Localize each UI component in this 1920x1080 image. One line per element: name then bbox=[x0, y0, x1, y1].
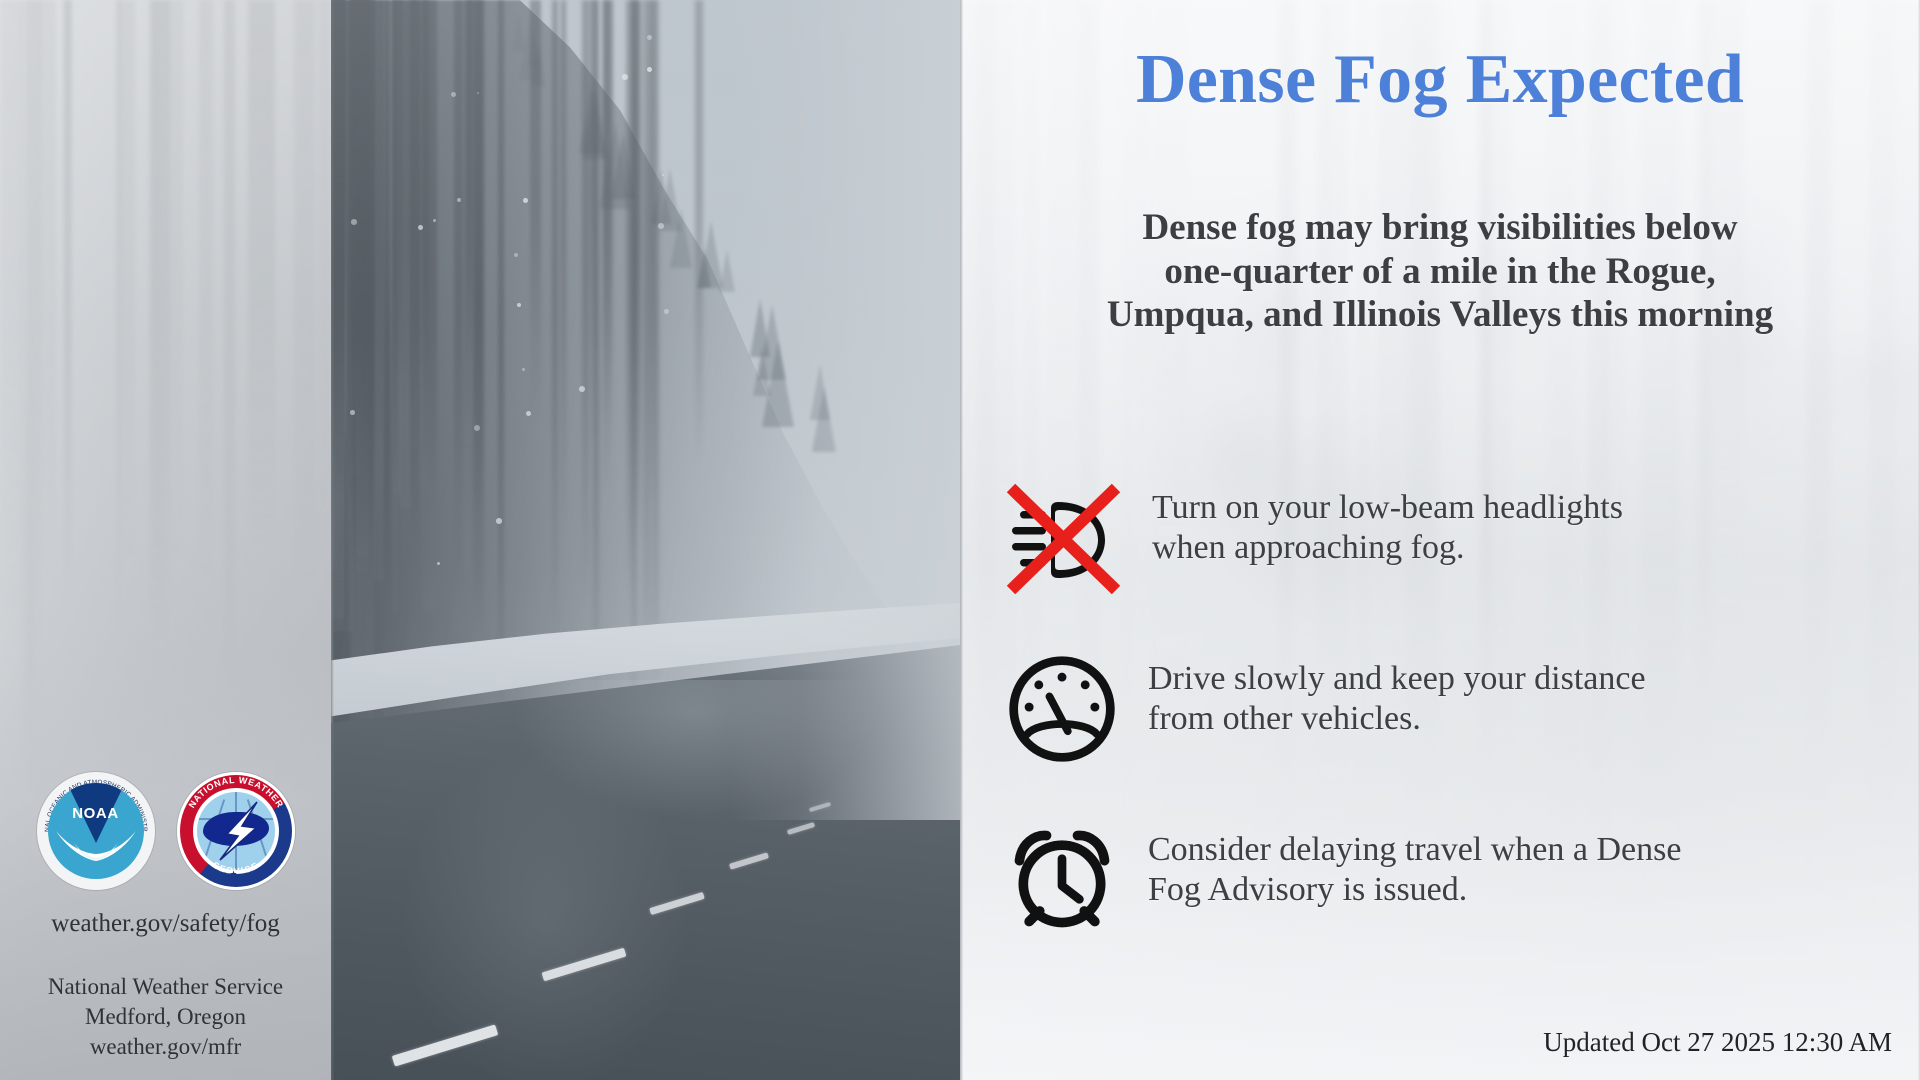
noaa-logo-icon: NATIONAL OCEANIC AND ATMOSPHERIC ADMINIS… bbox=[37, 772, 155, 890]
office-name: National Weather Service bbox=[0, 972, 331, 1002]
office-credit: National Weather Service Medford, Oregon… bbox=[0, 972, 331, 1062]
branding-panel: NATIONAL OCEANIC AND ATMOSPHERIC ADMINIS… bbox=[0, 0, 331, 1080]
nws-logo-icon: NATIONAL WEATHER SERVICE ★ ★ ★ bbox=[177, 772, 295, 890]
speedometer-icon bbox=[1004, 651, 1120, 767]
photo-left-edge bbox=[331, 0, 334, 1080]
safety-tip-line-1: Drive slowly and keep your distance bbox=[1148, 659, 1880, 699]
subheadline-line-1: Dense fog may bring visibilities below bbox=[982, 206, 1898, 250]
alarm-clock-glyph bbox=[1004, 822, 1120, 938]
noaa-wordmark: NOAA bbox=[48, 805, 144, 822]
safety-tip-line-2: when approaching fog. bbox=[1152, 528, 1880, 568]
fog-safety-link[interactable]: weather.gov/safety/fog bbox=[0, 910, 331, 938]
safety-tip-line-1: Turn on your low-beam headlights bbox=[1152, 488, 1880, 528]
no-high-beam-headlight-icon bbox=[1004, 480, 1124, 596]
safety-tip-line-2: Fog Advisory is issued. bbox=[1148, 870, 1880, 910]
headlight-glyph bbox=[1004, 480, 1124, 600]
safety-tip-text: Turn on your low-beam headlights when ap… bbox=[1152, 480, 1880, 568]
svg-text:NATIONAL WEATHER: NATIONAL WEATHER bbox=[186, 775, 285, 810]
speedometer-glyph bbox=[1004, 651, 1120, 767]
subheadline-line-3: Umpqua, and Illinois Valleys this mornin… bbox=[982, 293, 1898, 337]
alarm-clock-icon bbox=[1004, 822, 1120, 938]
agency-logos: NATIONAL OCEANIC AND ATMOSPHERIC ADMINIS… bbox=[0, 772, 331, 890]
safety-tip-text: Drive slowly and keep your distance from… bbox=[1148, 651, 1880, 739]
safety-tip-line-1: Consider delaying travel when a Dense bbox=[1148, 830, 1880, 870]
page-title: Dense Fog Expected bbox=[960, 40, 1920, 120]
safety-tip-item: Consider delaying travel when a Dense Fo… bbox=[960, 822, 1920, 938]
noaa-disc: NOAA bbox=[48, 783, 144, 879]
updated-timestamp: Updated Oct 27 2025 12:30 AM bbox=[1543, 1027, 1892, 1058]
safety-tip-line-2: from other vehicles. bbox=[1148, 699, 1880, 739]
safety-tip-text: Consider delaying travel when a Dense Fo… bbox=[1148, 822, 1880, 910]
noaa-seagull-icon bbox=[54, 827, 138, 867]
subheadline-line-2: one-quarter of a mile in the Rogue, bbox=[982, 250, 1898, 294]
nws-stars: ★ ★ ★ bbox=[177, 869, 295, 880]
fog-road-photo bbox=[331, 0, 960, 1080]
message-panel: Dense Fog Expected Dense fog may bring v… bbox=[960, 0, 1920, 1080]
safety-tips-list: Turn on your low-beam headlights when ap… bbox=[960, 480, 1920, 993]
subheadline: Dense fog may bring visibilities below o… bbox=[982, 206, 1898, 337]
safety-tip-item: Drive slowly and keep your distance from… bbox=[960, 651, 1920, 767]
safety-tip-item: Turn on your low-beam headlights when ap… bbox=[960, 480, 1920, 596]
office-city: Medford, Oregon bbox=[0, 1002, 331, 1032]
infographic-canvas: NATIONAL OCEANIC AND ATMOSPHERIC ADMINIS… bbox=[0, 0, 1920, 1080]
office-link[interactable]: weather.gov/mfr bbox=[0, 1032, 331, 1062]
